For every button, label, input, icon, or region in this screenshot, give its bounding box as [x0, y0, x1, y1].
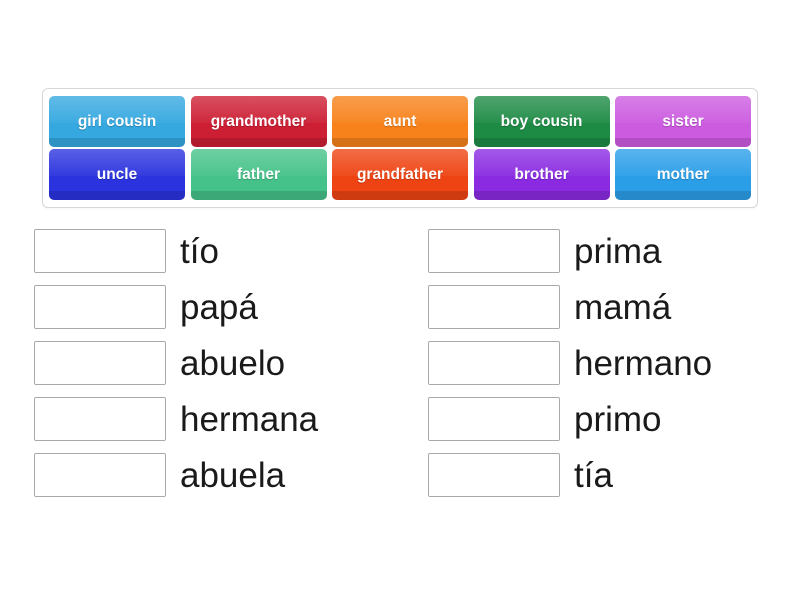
tile-label: uncle: [93, 166, 141, 183]
answer-row: tío: [34, 228, 380, 274]
answer-word: papá: [180, 290, 258, 325]
answer-row: prima: [428, 228, 774, 274]
tile-brother[interactable]: brother: [474, 149, 610, 200]
tile-mother[interactable]: mother: [615, 149, 751, 200]
tile-label: aunt: [380, 113, 421, 130]
drop-slot-hermano[interactable]: [428, 341, 560, 385]
answer-row: hermana: [34, 396, 380, 442]
tile-boy-cousin[interactable]: boy cousin: [474, 96, 610, 147]
tile-grandmother[interactable]: grandmother: [191, 96, 327, 147]
answer-word: prima: [574, 234, 662, 269]
tile-sister[interactable]: sister: [615, 96, 751, 147]
answer-word: mamá: [574, 290, 671, 325]
answer-row: abuela: [34, 452, 380, 498]
tile-label: sister: [658, 113, 707, 130]
answer-row: mamá: [428, 284, 774, 330]
tile-father[interactable]: father: [191, 149, 327, 200]
answer-row: primo: [428, 396, 774, 442]
answer-word: tía: [574, 458, 613, 493]
tile-grandfather[interactable]: grandfather: [332, 149, 468, 200]
drop-slot-abuela[interactable]: [34, 453, 166, 497]
tile-label: brother: [510, 166, 572, 183]
answer-word: abuela: [180, 458, 285, 493]
answer-row: abuelo: [34, 340, 380, 386]
drop-slot-mama[interactable]: [428, 285, 560, 329]
answer-area: tío papá abuelo hermana abuela pri: [34, 228, 774, 498]
answer-row: papá: [34, 284, 380, 330]
drop-slot-abuelo[interactable]: [34, 341, 166, 385]
tile-aunt[interactable]: aunt: [332, 96, 468, 147]
drop-slot-papa[interactable]: [34, 285, 166, 329]
drop-slot-hermana[interactable]: [34, 397, 166, 441]
tile-label: grandmother: [207, 113, 311, 130]
answer-word: primo: [574, 402, 662, 437]
tile-label: mother: [653, 166, 714, 183]
answer-row: tía: [428, 452, 774, 498]
tile-girl-cousin[interactable]: girl cousin: [49, 96, 185, 147]
answer-word: hermano: [574, 346, 712, 381]
answer-column-right: prima mamá hermano primo tía: [428, 228, 774, 498]
activity-page: girl cousin grandmother aunt boy cousin …: [0, 0, 800, 600]
tile-tray: girl cousin grandmother aunt boy cousin …: [42, 88, 758, 208]
tile-label: boy cousin: [497, 113, 587, 130]
tile-label: girl cousin: [74, 113, 160, 130]
tile-row-1: girl cousin grandmother aunt boy cousin …: [49, 96, 751, 147]
tile-label: grandfather: [353, 166, 447, 183]
drop-slot-tia[interactable]: [428, 453, 560, 497]
tile-row-2: uncle father grandfather brother mother: [49, 149, 751, 200]
answer-word: abuelo: [180, 346, 285, 381]
tile-uncle[interactable]: uncle: [49, 149, 185, 200]
tile-label: father: [233, 166, 284, 183]
drop-slot-prima[interactable]: [428, 229, 560, 273]
drop-slot-tio[interactable]: [34, 229, 166, 273]
answer-row: hermano: [428, 340, 774, 386]
answer-word: hermana: [180, 402, 318, 437]
answer-column-left: tío papá abuelo hermana abuela: [34, 228, 380, 498]
drop-slot-primo[interactable]: [428, 397, 560, 441]
answer-word: tío: [180, 234, 219, 269]
